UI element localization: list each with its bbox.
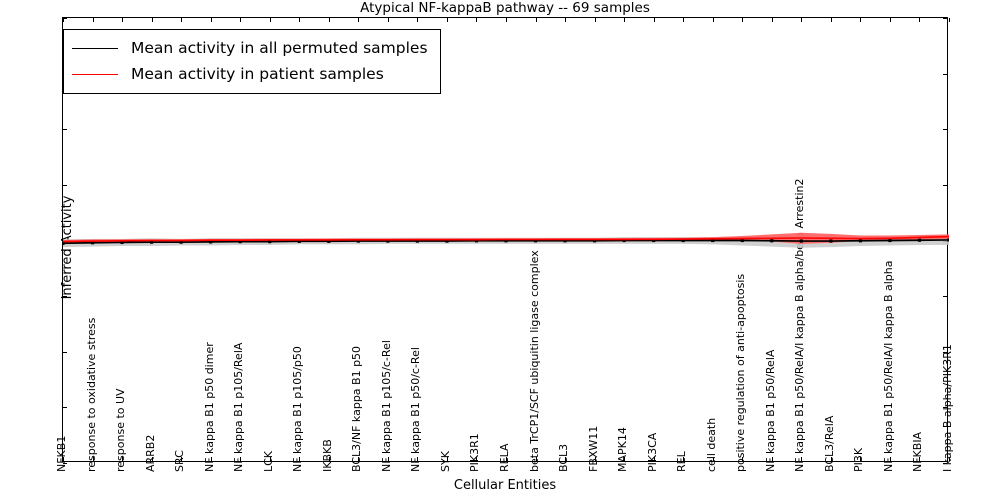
chart-figure: Atypical NF-kappaB pathway -- 69 samples… (0, 0, 1000, 500)
legend-entry-patient: Mean activity in patient samples (72, 61, 428, 87)
legend-label-patient: Mean activity in patient samples (131, 65, 384, 83)
legend-line-red (72, 74, 118, 75)
data-point-marker (800, 239, 803, 242)
chart-title: Atypical NF-kappaB pathway -- 69 samples (62, 0, 948, 17)
plot-area: Inferred Activity 43210−1−2−3−4 NFKB1res… (62, 17, 948, 462)
x-tick-mark (949, 18, 950, 22)
legend-line-black (72, 48, 118, 49)
chart-legend: Mean activity in all permuted samples Me… (63, 29, 441, 94)
x-axis-label: Cellular Entities (62, 478, 948, 493)
data-point-marker (829, 239, 832, 242)
data-point-marker (888, 239, 891, 242)
data-point-marker (741, 239, 744, 242)
data-point-marker (918, 239, 921, 242)
data-point-marker (770, 239, 773, 242)
legend-entry-permuted: Mean activity in all permuted samples (72, 35, 428, 61)
data-point-marker (947, 238, 949, 241)
legend-label-permuted: Mean activity in all permuted samples (131, 39, 428, 57)
data-point-marker (859, 239, 862, 242)
